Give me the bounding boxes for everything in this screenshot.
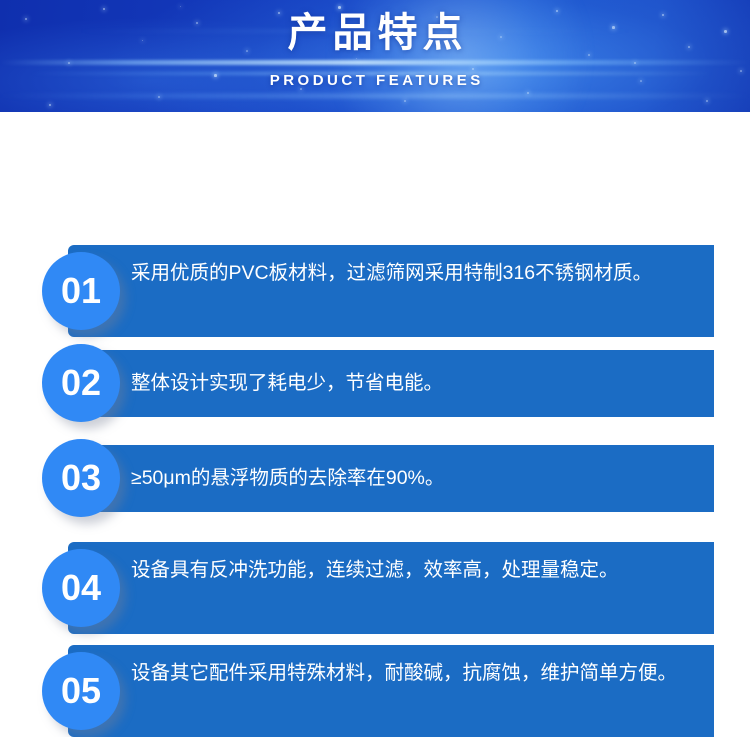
feature-number-badge: 05 — [42, 652, 120, 730]
feature-text: 设备其它配件采用特殊材料，耐酸碱，抗腐蚀，维护简单方便。 — [131, 657, 691, 689]
star-particle — [68, 62, 70, 64]
feature-text: 整体设计实现了耗电少，节省电能。 — [131, 367, 691, 399]
feature-number-badge: 02 — [42, 344, 120, 422]
feature-text: ≥50μm的悬浮物质的去除率在90%。 — [131, 462, 691, 494]
page-title: 产品特点 — [0, 8, 750, 58]
banner-light-streak-main — [0, 60, 750, 65]
feature-number-badge: 04 — [42, 549, 120, 627]
page-subtitle: PRODUCT FEATURES — [0, 72, 750, 89]
feature-number-badge: 03 — [42, 439, 120, 517]
star-particle — [49, 104, 51, 106]
banner-light-streak-bottom — [0, 94, 750, 98]
star-particle — [404, 100, 406, 102]
star-particle — [527, 92, 529, 94]
feature-number-badge: 01 — [42, 252, 120, 330]
page-header-banner: 产品特点 PRODUCT FEATURES — [0, 0, 750, 112]
star-particle — [356, 58, 357, 59]
feature-text: 设备具有反冲洗功能，连续过滤，效率高，处理量稳定。 — [131, 554, 691, 586]
star-particle — [634, 62, 636, 64]
feature-text: 采用优质的PVC板材料，过滤筛网采用特制316不锈钢材质。 — [131, 257, 691, 289]
star-particle — [472, 68, 474, 70]
star-particle — [158, 96, 160, 98]
star-particle — [706, 100, 708, 102]
